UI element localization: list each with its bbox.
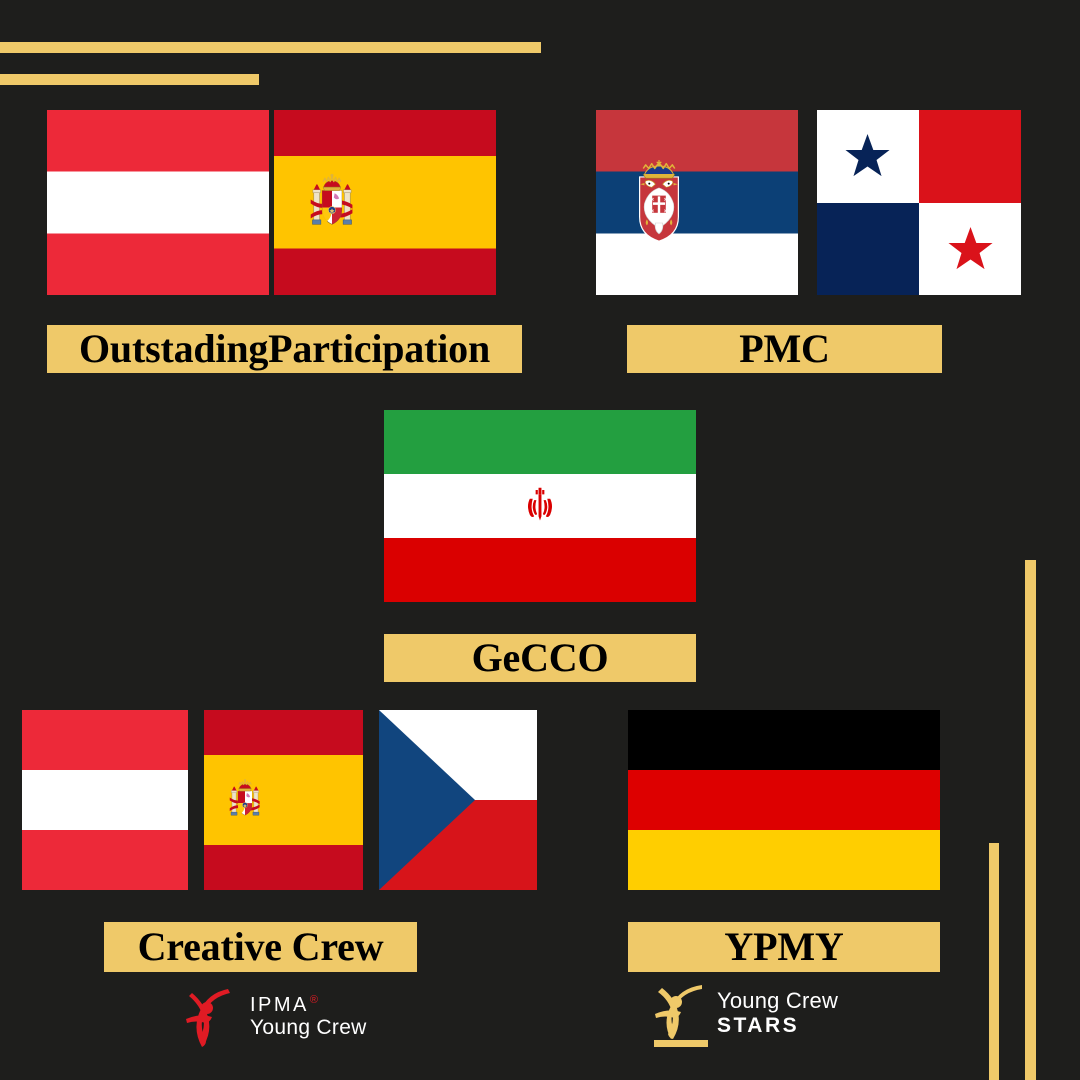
ipma-line-2: Young Crew bbox=[250, 1016, 367, 1040]
serbia-coat-of-arms bbox=[634, 134, 682, 271]
ipma-young-crew-mark-icon bbox=[182, 985, 244, 1051]
panama-quadrant-blue bbox=[817, 203, 919, 296]
award-group-pmc: PMC bbox=[596, 110, 1021, 373]
flag-spain bbox=[274, 110, 496, 295]
award-group-ypmy: YPMY bbox=[628, 710, 940, 972]
flag-row bbox=[628, 710, 940, 890]
award-label-outstanding-participation[interactable]: OutstadingParticipation bbox=[47, 325, 522, 373]
award-label-ypmy[interactable]: YPMY bbox=[628, 922, 940, 972]
award-label-pmc[interactable]: PMC bbox=[627, 325, 942, 373]
flag-panama bbox=[817, 110, 1021, 295]
young-crew-stars-line-1: Young Crew bbox=[717, 989, 838, 1013]
logo-ipma-young-crew: IPMA ® Young Crew bbox=[182, 985, 367, 1051]
poster-canvas: OutstadingParticipation bbox=[0, 0, 1080, 1080]
young-crew-stars-mark-icon bbox=[650, 982, 712, 1040]
spain-coat-of-arms bbox=[310, 151, 354, 255]
panama-quadrant-red bbox=[919, 110, 1021, 203]
award-group-gecco: GeCCO bbox=[384, 410, 696, 682]
logo-young-crew-stars: Young Crew STARS bbox=[650, 982, 838, 1045]
award-group-outstanding-participation: OutstadingParticipation bbox=[47, 110, 522, 373]
young-crew-stars-line-2: STARS bbox=[717, 1014, 838, 1038]
decorative-gold-bar-right-long bbox=[1025, 560, 1036, 1080]
panama-red-star-icon bbox=[944, 225, 997, 273]
registered-mark-icon: ® bbox=[310, 995, 318, 1007]
award-group-creative-crew: Creative Crew bbox=[22, 710, 537, 972]
young-crew-stars-underline bbox=[654, 1040, 708, 1047]
award-label-gecco[interactable]: GeCCO bbox=[384, 634, 696, 682]
flag-iran bbox=[384, 410, 696, 602]
ipma-line-1: IPMA ® bbox=[250, 995, 367, 1016]
flag-row bbox=[384, 410, 696, 602]
flag-germany bbox=[628, 710, 940, 890]
panama-blue-star-icon bbox=[841, 132, 894, 180]
flag-row bbox=[22, 710, 537, 890]
czech-blue-wedge bbox=[379, 710, 475, 890]
young-crew-stars-wordmark: Young Crew STARS bbox=[717, 989, 838, 1037]
decorative-gold-bar-top-2 bbox=[0, 74, 259, 85]
ipma-young-crew-wordmark: IPMA ® Young Crew bbox=[250, 995, 367, 1040]
flag-serbia bbox=[596, 110, 798, 295]
flag-row bbox=[596, 110, 1021, 295]
award-label-creative-crew[interactable]: Creative Crew bbox=[104, 922, 417, 972]
decorative-gold-bar-top-1 bbox=[0, 42, 541, 53]
flag-austria bbox=[22, 710, 188, 890]
young-crew-stars-mark-wrap bbox=[650, 982, 712, 1045]
decorative-gold-bar-right-short bbox=[989, 843, 999, 1080]
flag-czech-republic bbox=[379, 710, 537, 890]
flag-row bbox=[47, 110, 522, 295]
flag-austria bbox=[47, 110, 269, 295]
flag-spain bbox=[204, 710, 363, 890]
iran-emblem-icon bbox=[518, 481, 562, 531]
spain-coat-of-arms bbox=[229, 750, 261, 851]
